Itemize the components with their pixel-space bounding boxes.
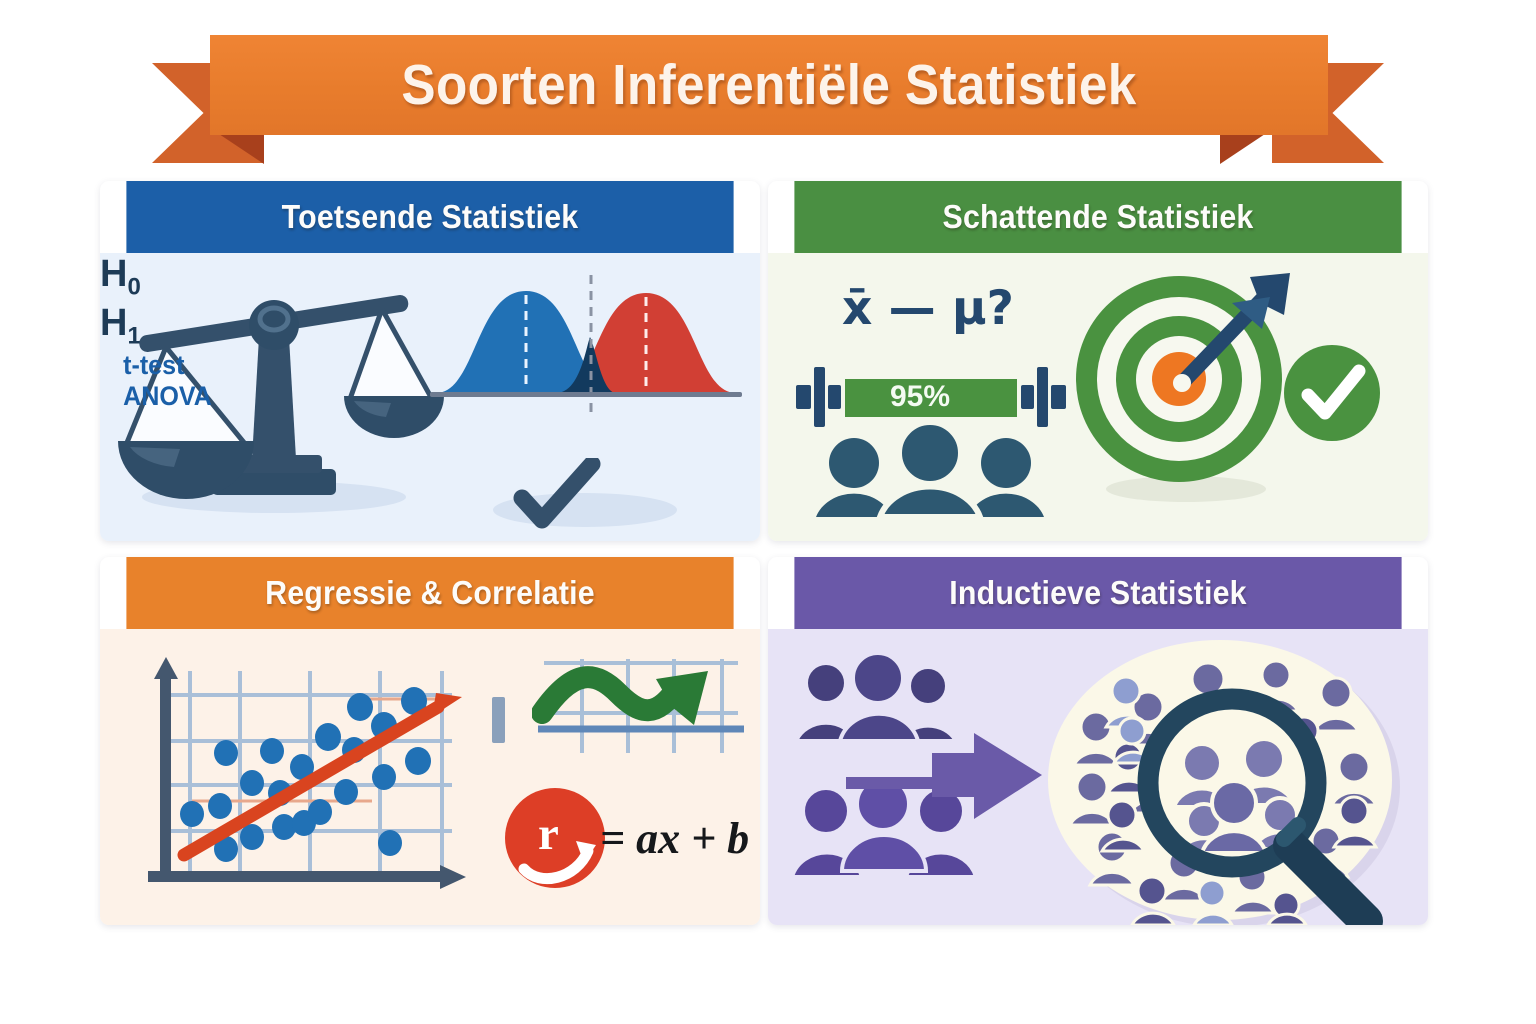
panel-schattende-body: x̄ — μ? 95%	[768, 253, 1428, 541]
panel-regressie-correlatie: Regressie & Correlatie	[100, 557, 760, 925]
panel-toetsende-statistiek: Toetsende Statistiek H0	[100, 181, 760, 541]
panel-schattende-statistiek: Schattende Statistiek x̄ — μ? 95%	[768, 181, 1428, 541]
sample-group-icon	[792, 655, 982, 741]
target-bullseye-icon	[1064, 267, 1304, 507]
panel-regressie-body: r = ax + b	[100, 629, 760, 925]
regression-equation-label: = ax + b	[600, 813, 749, 864]
divider-bar-icon	[492, 697, 505, 743]
t-test-label: t-test	[123, 350, 737, 381]
panel-inductieve-title: Inductieve Statistiek	[794, 557, 1401, 629]
confidence-level-label: 95%	[890, 380, 950, 414]
panel-regressie-title: Regressie & Correlatie	[126, 557, 733, 629]
population-circle-icon	[1036, 635, 1408, 925]
panel-schattende-title: Schattende Statistiek	[794, 181, 1401, 253]
anova-label: ANOVA	[123, 381, 737, 412]
checkmark-icon	[480, 458, 690, 534]
correlation-symbol-label: r	[538, 807, 559, 861]
panel-inductieve-statistiek: Inductieve Statistiek	[768, 557, 1428, 925]
inference-arrow-icon	[846, 733, 1046, 821]
scatter-plot-icon	[122, 649, 482, 919]
green-check-circle-icon	[1276, 337, 1388, 449]
panel-toetsende-body: H0 H1 t-test ANOVA	[100, 253, 760, 541]
s-curve-arrow-icon	[532, 657, 748, 777]
people-group-icon	[810, 425, 1050, 517]
panel-toetsende-title: Toetsende Statistiek	[126, 181, 733, 253]
title-ribbon: Soorten Inferentiële Statistiek	[0, 0, 1536, 178]
panel-inductieve-body	[768, 629, 1428, 925]
page-title: Soorten Inferentiële Statistiek	[266, 35, 1272, 135]
estimation-formula: x̄ — μ?	[842, 281, 1014, 336]
